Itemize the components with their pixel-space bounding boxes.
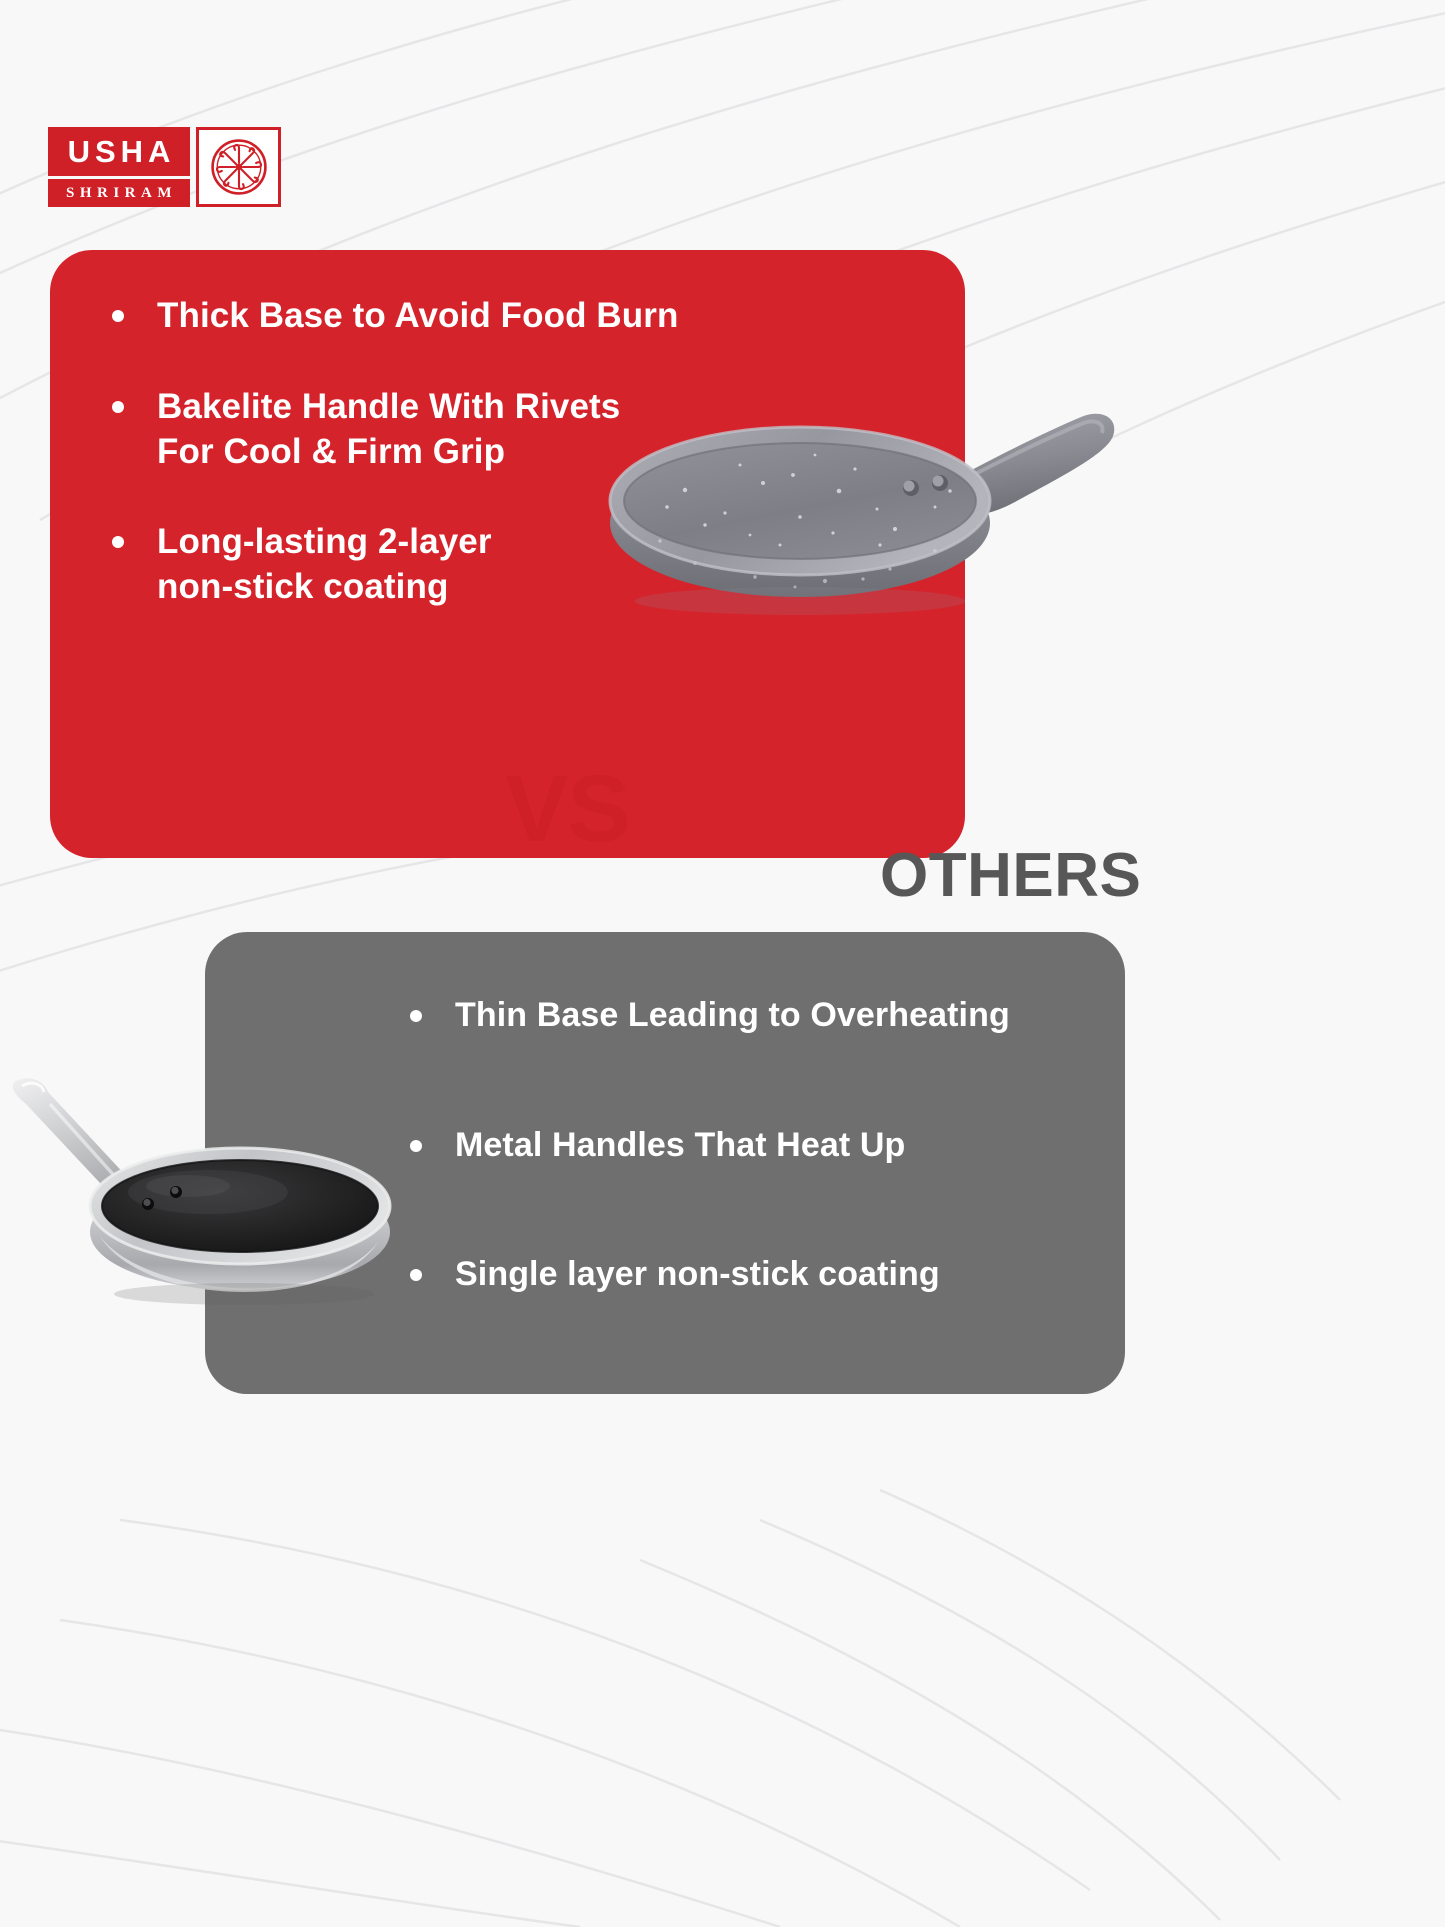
vs-label: VS — [505, 762, 630, 857]
brand-name-bottom-box: SHRIRAM — [48, 179, 190, 207]
brand-emblem-box — [196, 127, 281, 207]
others-product-image — [8, 1060, 408, 1310]
ours-product-image — [595, 395, 1135, 645]
others-feature-text: Single layer non-stick coating — [455, 1253, 940, 1297]
list-item: Metal Handles That Heat Up — [410, 1124, 1110, 1168]
list-item: Single layer non-stick coating — [410, 1253, 1110, 1297]
brand-name-top: USHA — [63, 136, 176, 167]
list-item: Thick Base to Avoid Food Burn — [112, 294, 752, 339]
bullet-dot-icon — [112, 310, 124, 322]
bullet-dot-icon — [112, 536, 124, 548]
bullet-dot-icon — [112, 401, 124, 413]
bullet-dot-icon — [410, 1269, 422, 1281]
ours-feature-text: Thick Base to Avoid Food Burn — [157, 294, 678, 339]
brand-name-top-box: USHA — [48, 127, 190, 176]
others-heading: OTHERS — [880, 845, 1141, 907]
others-feature-text: Thin Base Leading to Overheating — [455, 994, 1010, 1038]
ours-feature-text: Long-lasting 2-layer non-stick coating — [157, 520, 492, 610]
others-feature-list: Thin Base Leading to Overheating Metal H… — [410, 994, 1110, 1297]
brand-wordmark: USHA SHRIRAM — [48, 127, 190, 207]
chakra-wheel-icon — [206, 134, 272, 200]
bullet-dot-icon — [410, 1140, 422, 1152]
others-feature-text: Metal Handles That Heat Up — [455, 1124, 905, 1168]
ours-feature-text: Bakelite Handle With Rivets For Cool & F… — [157, 385, 620, 475]
brand-logo: USHA SHRIRAM — [48, 127, 281, 207]
list-item: Thin Base Leading to Overheating — [410, 994, 1110, 1038]
bullet-dot-icon — [410, 1010, 422, 1022]
brand-name-bottom: SHRIRAM — [61, 186, 177, 201]
